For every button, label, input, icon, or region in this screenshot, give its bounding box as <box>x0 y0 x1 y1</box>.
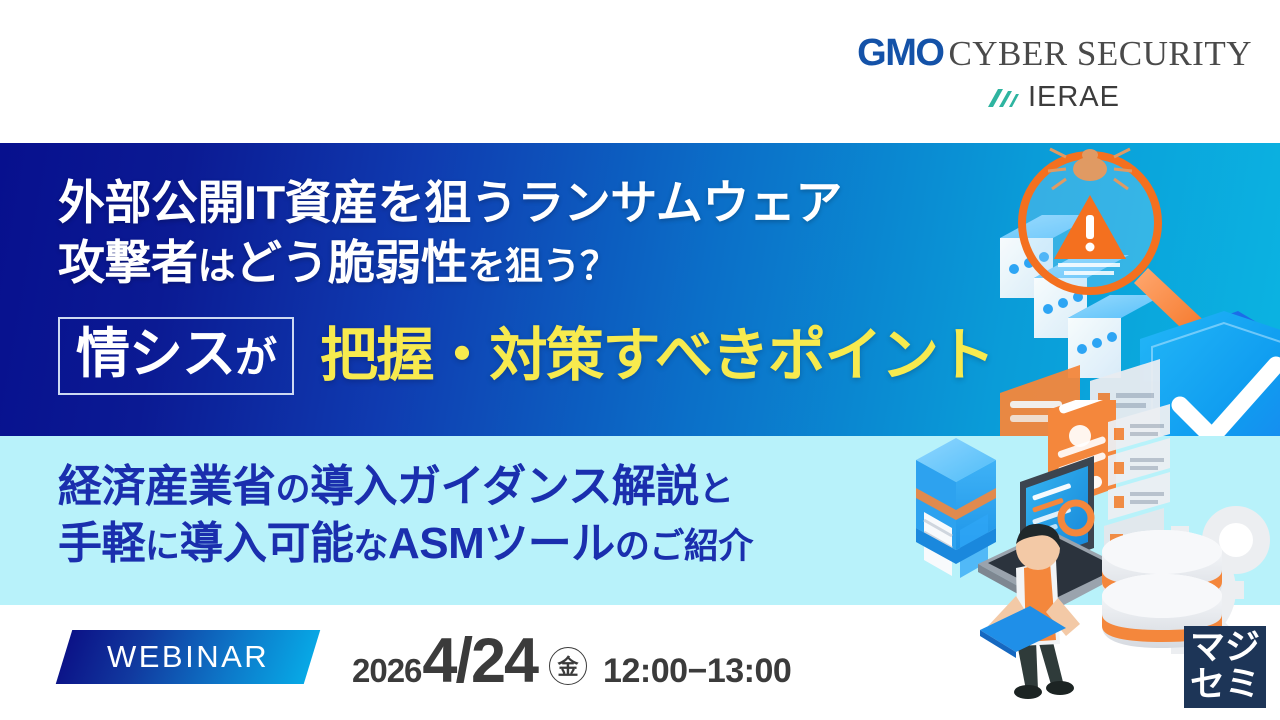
boxed-label: 情シスが <box>58 317 294 395</box>
cyber-security-wordmark: CYBER SECURITY <box>948 36 1252 71</box>
majisemi-logo-line-2: セミ <box>1190 667 1260 704</box>
event-month-day: 4/24 <box>422 625 537 697</box>
subtitle-line-1-part-a: 経済産業省 <box>58 462 276 511</box>
webinar-badge: WEBINAR <box>56 630 321 684</box>
ierae-wordmark: IERAE <box>1028 83 1120 112</box>
headline-line-2-part-c: どう脆弱性 <box>235 236 468 289</box>
subtitle-line-2-part-b: に <box>145 527 180 566</box>
majisemi-logo-line-1: マジ <box>1190 630 1260 667</box>
subtitle-line-1-part-b: の <box>276 470 311 509</box>
boxed-label-particle: が <box>235 334 276 381</box>
event-datetime: 2026 4/24 金 12:00−13:00 <box>352 625 791 697</box>
headline-line-1: 外部公開IT資産を狙うランサムウェア <box>58 173 842 233</box>
boxed-label-main: 情シス <box>76 324 235 384</box>
hero-band: 外部公開IT資産を狙うランサムウェア 攻撃者はどう脆弱性を狙う？ 情シスが 把握… <box>0 143 1280 436</box>
headline-line-2-part-b: は <box>198 246 236 288</box>
document-panels <box>1000 359 1160 436</box>
subtitle-line-2-part-c: 導入可能 <box>180 519 354 568</box>
isometric-server-stack <box>1000 215 1163 378</box>
subtitle-line-2: 手軽に導入可能なASMツールのご紹介 <box>58 515 753 572</box>
ierae-slash-icon <box>986 87 1020 109</box>
subtitle-text: 経済産業省の導入ガイダンス解説と 手軽に導入可能なASMツールのご紹介 <box>58 458 753 572</box>
subtitle-line-2-part-d: な <box>354 527 389 566</box>
webinar-banner: GMO CYBER SECURITY IERAE 外部公開IT資産を狙うランサム… <box>0 0 1280 720</box>
subtitle-line-2-part-f: のご紹介 <box>615 527 753 566</box>
subtitle-band: 経済産業省の導入ガイダンス解説と 手軽に導入可能なASMツールのご紹介 <box>0 436 1280 605</box>
headline-line-2-part-d: を狙う？ <box>468 246 618 288</box>
magnifier-bug-warning <box>1022 149 1215 346</box>
brand-logo: GMO CYBER SECURITY IERAE <box>857 34 1252 112</box>
headline-line-2-part-a: 攻撃者 <box>58 236 198 289</box>
subtitle-line-1: 経済産業省の導入ガイダンス解説と <box>58 458 753 515</box>
subtitle-line-1-part-c: 導入ガイダンス解説 <box>310 462 699 511</box>
headline-line-2: 攻撃者はどう脆弱性を狙う？ <box>58 233 842 293</box>
hero-headline: 外部公開IT資産を狙うランサムウェア 攻撃者はどう脆弱性を狙う？ <box>58 173 842 293</box>
brand-logo-secondary-row: IERAE <box>857 83 1120 112</box>
gmo-wordmark: GMO <box>857 34 943 72</box>
majisemi-logo: マジ セミ <box>1184 626 1266 708</box>
event-day-of-week: 金 <box>549 647 587 685</box>
webinar-badge-label: WEBINAR <box>107 639 269 675</box>
event-year: 2026 <box>352 652 421 690</box>
highlight-text: 把握・対策すべきポイント <box>320 325 994 388</box>
subtitle-line-2-part-e: ASMツール <box>388 519 615 568</box>
event-time-range: 12:00−13:00 <box>603 652 791 691</box>
brand-logo-primary-row: GMO CYBER SECURITY <box>857 34 1252 72</box>
hero-emphasis-row: 情シスが 把握・対策すべきポイント <box>58 317 994 395</box>
subtitle-line-1-part-d: と <box>699 470 734 509</box>
bug-icon <box>1048 149 1132 189</box>
subtitle-line-2-part-a: 手軽 <box>58 519 145 568</box>
security-shield-check <box>1140 311 1280 436</box>
